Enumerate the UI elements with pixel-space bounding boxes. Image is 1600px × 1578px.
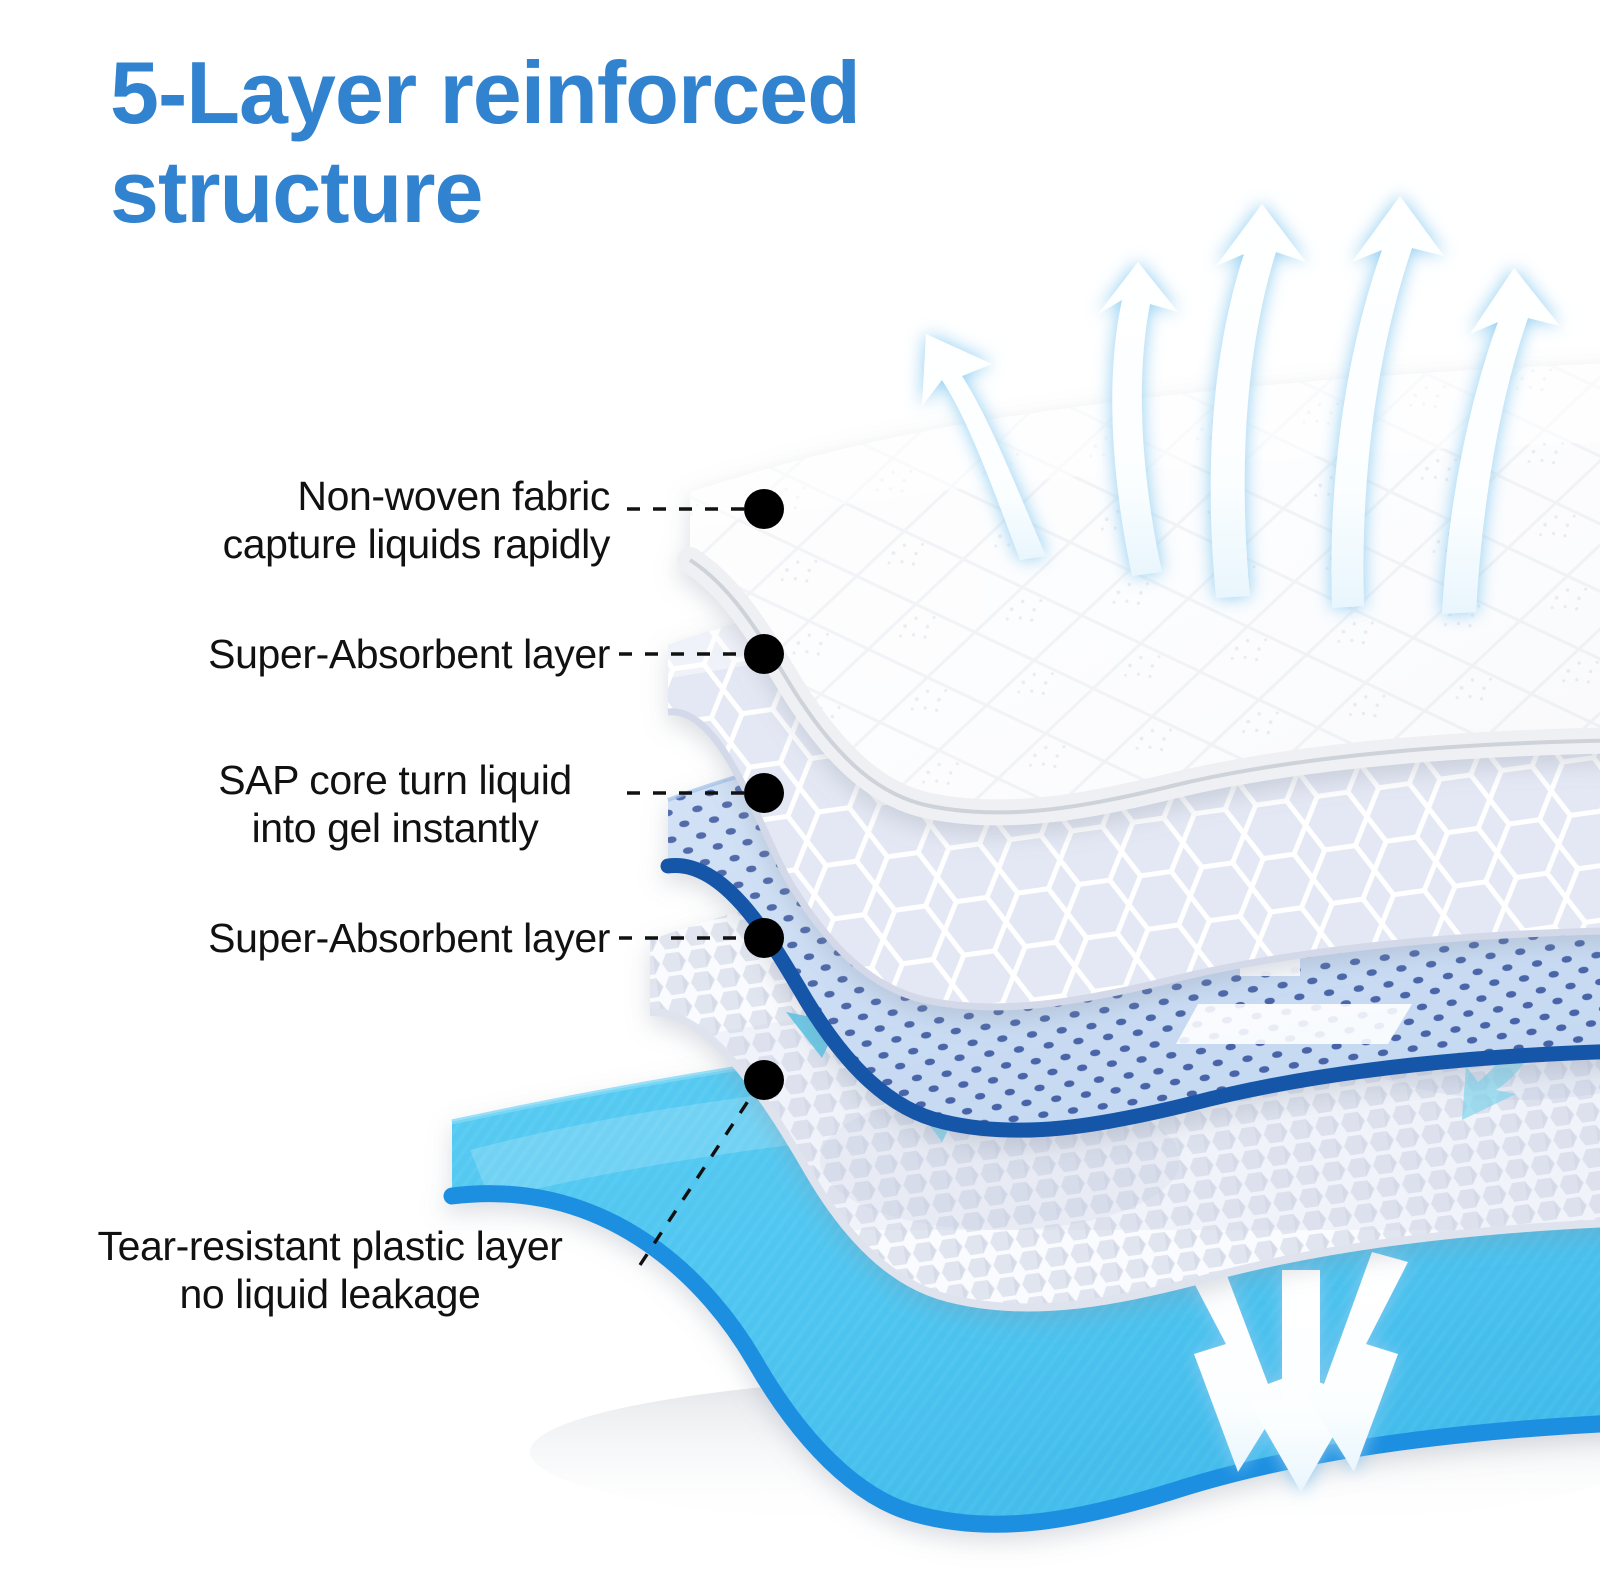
page-title: 5-Layer reinforced structure	[110, 44, 1110, 241]
callout-label-tear-resistant-plastic: Tear-resistant plastic layer no liquid l…	[40, 1222, 620, 1319]
callout-dot-2	[744, 634, 784, 674]
callout-dot-3	[744, 773, 784, 813]
infographic-canvas: 5-Layer reinforced structure Non-woven f…	[0, 0, 1600, 1578]
callout-label-super-absorbent-lower: Super-Absorbent layer	[130, 914, 610, 962]
callout-dot-5	[744, 1060, 784, 1100]
callout-dot-4	[744, 918, 784, 958]
callout-dot-1	[744, 489, 784, 529]
callout-label-non-woven-fabric: Non-woven fabric capture liquids rapidly	[140, 472, 610, 569]
callout-label-sap-core: SAP core turn liquid into gel instantly	[180, 756, 610, 853]
callout-label-super-absorbent-upper: Super-Absorbent layer	[130, 630, 610, 678]
